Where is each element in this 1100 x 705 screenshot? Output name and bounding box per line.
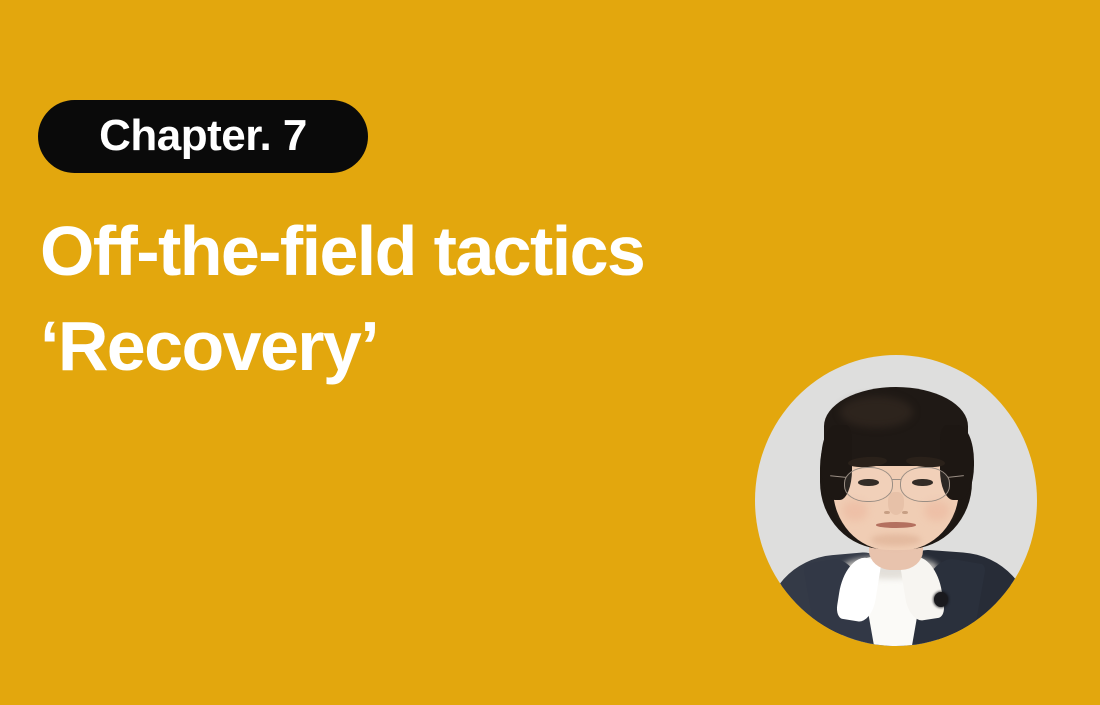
portrait-photo	[755, 355, 1037, 646]
hair-part	[840, 396, 913, 428]
chapter-badge: Chapter. 7	[38, 100, 368, 173]
headline-line-2: ‘Recovery’	[40, 299, 830, 394]
headline-block: Off-the-field tactics ‘Recovery’	[40, 204, 830, 394]
speaker-portrait	[755, 355, 1037, 646]
eyeglass-lens-right	[900, 467, 949, 502]
headline-line-1: Off-the-field tactics	[40, 204, 830, 299]
eyeglass-bridge	[892, 479, 901, 483]
cheek-left	[842, 501, 867, 521]
chapter-badge-label: Chapter. 7	[99, 114, 307, 158]
eyeglass-lens-left	[844, 467, 893, 502]
chin-shadow	[871, 534, 922, 546]
cheek-right	[924, 501, 949, 521]
slide-canvas: Chapter. 7 Off-the-field tactics ‘Recove…	[0, 0, 1100, 705]
lapel-pin	[934, 592, 948, 607]
